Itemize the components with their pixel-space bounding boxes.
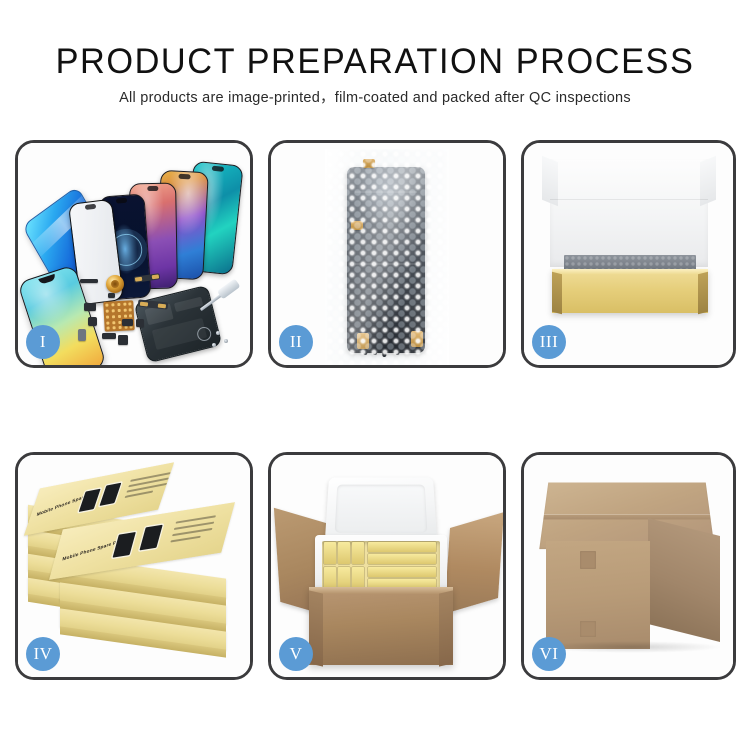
box-lip (552, 269, 708, 275)
foam-lid-inner (335, 485, 428, 533)
box-corner-right (698, 272, 708, 314)
spare-part-speck (136, 319, 144, 327)
spare-part-speck (108, 293, 115, 298)
yellow-retail-box (368, 542, 436, 552)
yellow-retail-box (324, 542, 336, 564)
box-product-photo (139, 525, 162, 551)
spare-part-speck (84, 303, 96, 311)
bag-edge (325, 149, 449, 365)
box-row-upper (322, 541, 440, 564)
step-panel-3-inner-box-foam: III (521, 140, 736, 368)
logic-board-pad-grid (103, 300, 135, 332)
kraft-box-base (552, 269, 708, 313)
carton-tab-lower (580, 621, 596, 637)
step-badge-1: I (26, 325, 60, 359)
box-spec-line (170, 536, 201, 543)
flex-cable-pad (135, 277, 142, 282)
step-panel-5-carton-loading: V (268, 452, 506, 680)
carton-tape-seam (543, 515, 711, 520)
carton-top-edge (309, 587, 453, 594)
bubble-wrap-bag (325, 149, 449, 365)
step-badge-4: IV (26, 637, 60, 671)
carton-front-face (546, 541, 650, 649)
step-panel-2-bubble-wrap-packing: II (268, 140, 506, 368)
yellow-retail-box (338, 542, 350, 564)
spare-part-speck (122, 319, 133, 326)
yellow-retail-box (352, 542, 364, 564)
yellow-retail-box (324, 567, 336, 589)
step-panel-6-sealed-carton: VI (521, 452, 736, 680)
carton-shadow (542, 641, 722, 653)
step-badge-5: V (279, 637, 313, 671)
box-corner-left (552, 272, 562, 314)
yellow-retail-box (338, 567, 350, 589)
product-preparation-infographic: PRODUCT PREPARATION PROCESS All products… (0, 0, 750, 750)
spare-part-speck (102, 333, 116, 339)
box-row-lower (322, 566, 440, 589)
lid-crease (550, 199, 708, 200)
screw (216, 331, 220, 335)
flex-cable-pad (158, 303, 166, 308)
process-steps-grid: I (0, 0, 750, 750)
carton-tab-upper (580, 551, 596, 569)
spare-part-speck (78, 329, 86, 341)
box-product-photo (79, 489, 101, 512)
step-panel-4-retail-box-stack: Mobile Phone Spare Parts (15, 452, 253, 680)
carton-body (309, 587, 453, 665)
carton-corner-right (439, 590, 453, 666)
flex-cable-pad (152, 274, 159, 279)
step-panel-1-product-components: I (15, 140, 253, 368)
copper-coil-part (106, 275, 124, 293)
screw (212, 343, 216, 347)
spare-part-speck (118, 335, 128, 345)
flex-cable-pad (140, 301, 148, 306)
step-badge-2: II (279, 325, 313, 359)
foam-box-lid (325, 477, 437, 541)
step-badge-6: VI (532, 637, 566, 671)
spare-part-speck (88, 317, 97, 326)
housing-ring (196, 325, 213, 342)
screw (224, 339, 228, 343)
white-box-lid (550, 159, 708, 267)
screwdriver-grip (217, 278, 241, 299)
box-product-photo (113, 532, 136, 558)
step-badge-3: III (532, 325, 566, 359)
foam-box-well (322, 541, 440, 590)
yellow-retail-box (368, 554, 436, 564)
carton-side-face (648, 518, 720, 642)
spare-part-speck (80, 279, 98, 283)
box-product-photo (99, 483, 121, 506)
yellow-retail-box (368, 567, 436, 577)
yellow-retail-box (352, 567, 364, 589)
box-stack: Mobile Phone Spare Parts (26, 469, 240, 669)
